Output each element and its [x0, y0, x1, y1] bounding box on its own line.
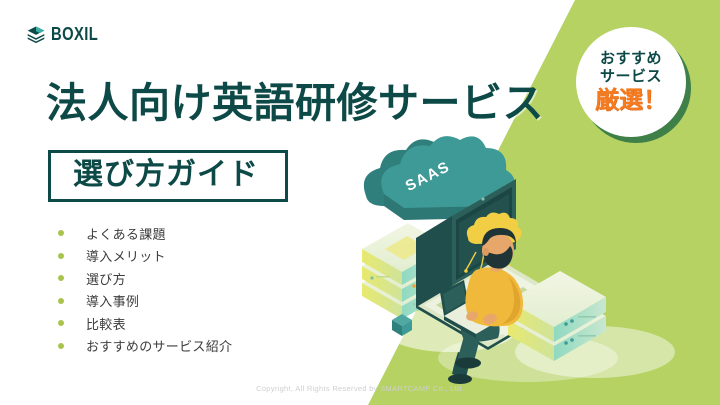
list-item-label: 選び方 — [86, 269, 126, 288]
list-item: よくある課題 — [58, 222, 232, 245]
list-item-label: 導入メリット — [86, 246, 166, 265]
saas-cloud-label: SAAS — [403, 158, 453, 195]
laptop — [416, 179, 570, 350]
list-item-label: おすすめのサービス紹介 — [86, 336, 232, 355]
saas-illustration — [340, 120, 720, 395]
status-badge: おすすめ サービス 厳選！ — [576, 27, 686, 137]
list-item: 選び方 — [58, 267, 232, 290]
bullet-dot-icon — [58, 298, 64, 304]
person-illustration — [440, 228, 523, 384]
badge-line-2: サービス — [600, 68, 662, 85]
list-item: 導入事例 — [58, 290, 232, 313]
bullet-dot-icon — [58, 320, 64, 326]
stacked-layers-icon — [26, 24, 46, 44]
list-item: 導入メリット — [58, 245, 232, 268]
logo-text: BOXIL — [51, 25, 98, 43]
list-item-label: 導入事例 — [86, 291, 139, 310]
server-stack-right — [508, 271, 606, 361]
subtitle-box: 選び方ガイド — [48, 150, 288, 202]
bullet-dot-icon — [58, 230, 64, 236]
bullet-dot-icon — [58, 275, 64, 281]
subtitle-text: 選び方ガイド — [73, 159, 259, 191]
list-item-label: 比較表 — [86, 314, 126, 333]
boxil-logo[interactable]: BOXIL — [26, 24, 109, 44]
bullet-dot-icon — [58, 343, 64, 349]
server-stack-left — [362, 223, 448, 319]
list-item: 比較表 — [58, 312, 232, 335]
badge-line-3: 厳選！ — [595, 88, 667, 114]
slide-canvas: BOXIL 法人向け英語研修サービス 選び方ガイド よくある課題 導入メリット … — [0, 0, 720, 405]
badge-circle: おすすめ サービス 厳選！ — [576, 27, 686, 137]
small-cube — [392, 314, 412, 326]
badge-line-1: おすすめ — [600, 50, 662, 67]
agenda-list: よくある課題 導入メリット 選び方 導入事例 比較表 おすすめのサービス紹介 — [58, 222, 232, 357]
page-title: 法人向け英語研修サービス — [46, 83, 544, 124]
copyright-footer: Copyright, All Rights Reserved by SMARTC… — [0, 384, 720, 393]
list-item: おすすめのサービス紹介 — [58, 335, 232, 358]
list-item-label: よくある課題 — [86, 224, 166, 243]
bullet-dot-icon — [58, 253, 64, 259]
saas-cloud-icon — [364, 136, 515, 220]
cloud-network-graphic — [464, 213, 521, 274]
